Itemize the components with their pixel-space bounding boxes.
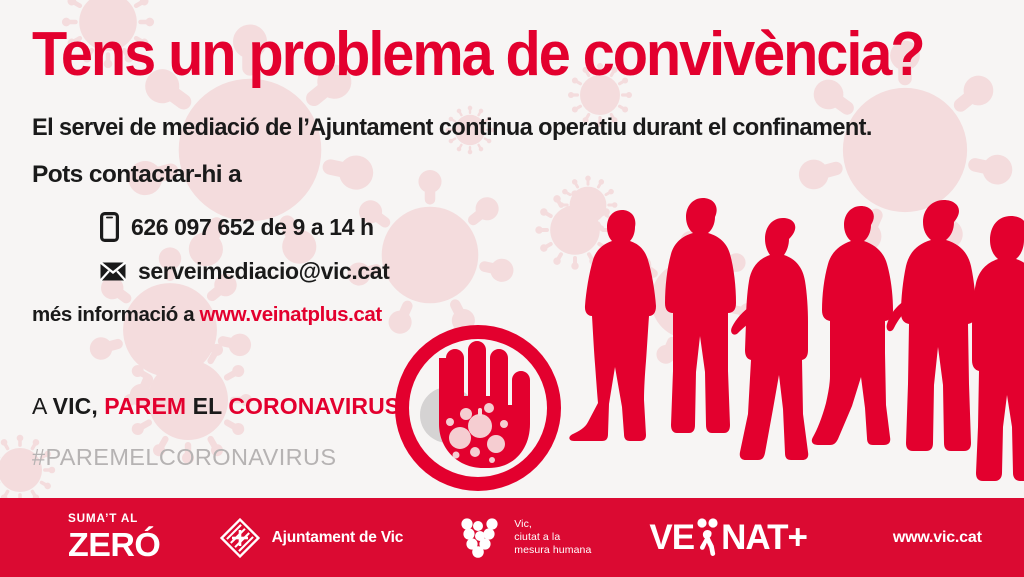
slogan-city: VIC, [53, 393, 98, 419]
footer-slot-veinat: VE NAT+ [649, 498, 806, 577]
email-address: serveimediacio@vic.cat [138, 258, 389, 285]
sumat-al-zero-logo: SUMA’T AL ZERÓ [68, 514, 158, 561]
more-info-prefix: més informació a [32, 303, 200, 326]
zero-wordmark: ZERÓ [68, 528, 160, 561]
footer-logo-bar: SUMA’T AL ZERÓ [0, 498, 1024, 577]
vic-coat-of-arms-icon [220, 518, 260, 558]
footer-website-link[interactable]: www.vic.cat [893, 529, 982, 547]
phone-number: 626 097 652 de 9 a 14 h [131, 214, 374, 241]
footer-slot-ajuntament: Ajuntament de Vic [220, 498, 404, 577]
poster-subheadline-line1: El servei de mediació de l’Ajuntament co… [32, 115, 872, 141]
vic-humana-line3: mesura humana [514, 544, 591, 556]
footer-slot-website[interactable]: www.vic.cat [893, 498, 982, 577]
campaign-slogan: A VIC, PAREM EL CORONAVIRUS! [32, 393, 408, 420]
walking-person-icon [694, 518, 720, 558]
mobile-phone-icon [100, 212, 119, 242]
poster-text-content: Tens un problema de convivència? El serv… [0, 0, 1024, 495]
veinat-after: NAT+ [721, 518, 807, 558]
slogan-coronavirus: CORONAVIRUS! [228, 393, 408, 419]
vic-humana-line2: ciutat a la [514, 531, 560, 543]
vic-v-logo-icon [459, 517, 503, 559]
ajuntament-label: Ajuntament de Vic [272, 529, 404, 547]
poster-canvas: Tens un problema de convivència? El serv… [0, 0, 1024, 577]
footer-slot-zero: SUMA’T AL ZERÓ [68, 498, 158, 577]
vic-humana-line1: Vic, [514, 518, 532, 530]
veinat-before: VE [649, 518, 694, 558]
poster-subheadline-line2: Pots contactar-hi a [32, 162, 241, 188]
slogan-parem: PAREM [98, 393, 193, 419]
more-info-line: més informació a www.veinatplus.cat [32, 303, 382, 327]
footer-slot-vic-humana: Vic, ciutat a la mesura humana [459, 498, 591, 577]
envelope-icon [100, 262, 126, 281]
zero-tagline: SUMA’T AL [68, 514, 159, 526]
poster-headline: Tens un problema de convivència? [32, 24, 924, 86]
contact-row-phone: 626 097 652 de 9 a 14 h [100, 212, 374, 242]
campaign-hashtag: #PAREMELCORONAVIRUS [32, 444, 336, 471]
veinat-plus-logo: VE NAT+ [649, 518, 806, 558]
slogan-part-a: A [32, 393, 53, 419]
vic-humana-tagline: Vic, ciutat a la mesura humana [514, 518, 591, 557]
more-info-url[interactable]: www.veinatplus.cat [200, 303, 382, 326]
contact-row-email: serveimediacio@vic.cat [100, 258, 389, 285]
slogan-el: EL [193, 393, 229, 419]
